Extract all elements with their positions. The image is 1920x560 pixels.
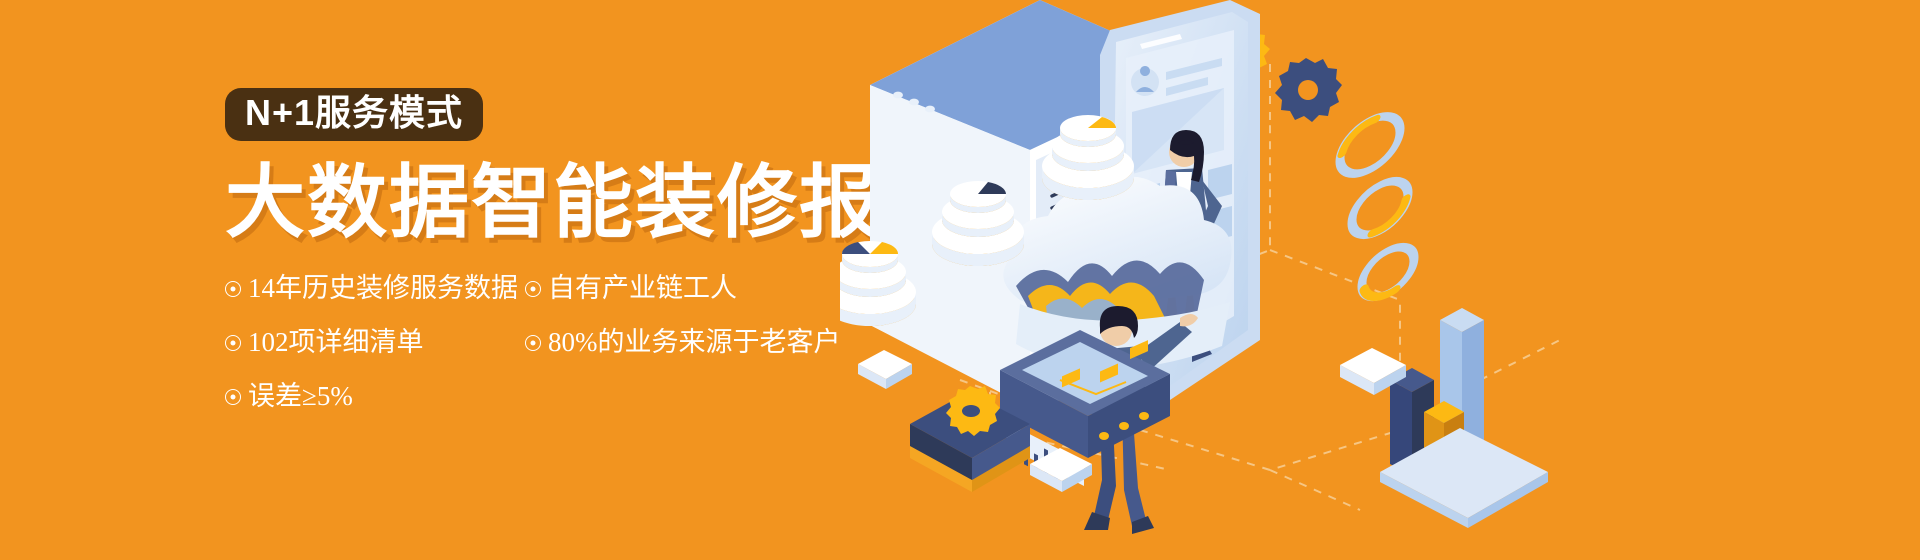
list-item-label: 14年历史装修服务数据 [248,275,518,302]
tile-plate-1 [858,350,912,389]
list-item-label: 自有产业链工人 [548,275,737,302]
circled-dot-icon [225,335,241,351]
list-item: 14年历史装修服务数据 [225,275,525,302]
circled-dot-icon [525,281,541,297]
list-item: 自有产业链工人 [525,275,865,302]
bar-3d-group [1380,308,1548,528]
ring-arc-3 [1362,238,1414,306]
feature-bullet-list: 14年历史装修服务数据 自有产业链工人 102项详细清单 80%的业务来源于老客… [225,275,865,437]
circled-dot-icon [525,335,541,351]
list-item: 102项详细清单 [225,329,525,356]
list-item: 误差≥5% [225,383,525,410]
gear-dark [1275,58,1342,122]
big-data-illustration [840,0,1920,560]
ring-arc-2 [1352,171,1408,244]
service-model-badge: N+1服务模式 [225,88,483,141]
list-item-label: 80%的业务来源于老客户 [548,329,841,356]
list-item-label: 误差≥5% [248,383,353,410]
list-item: 80%的业务来源于老客户 [525,329,865,356]
promo-banner: N+1服务模式 大数据智能装修报价 14年历史装修服务数据 自有产业链工人 10… [0,0,1920,560]
circled-dot-icon [225,281,241,297]
ring-arc-1 [1340,106,1400,184]
circled-dot-icon [225,389,241,405]
list-item-label: 102项详细清单 [248,329,424,356]
